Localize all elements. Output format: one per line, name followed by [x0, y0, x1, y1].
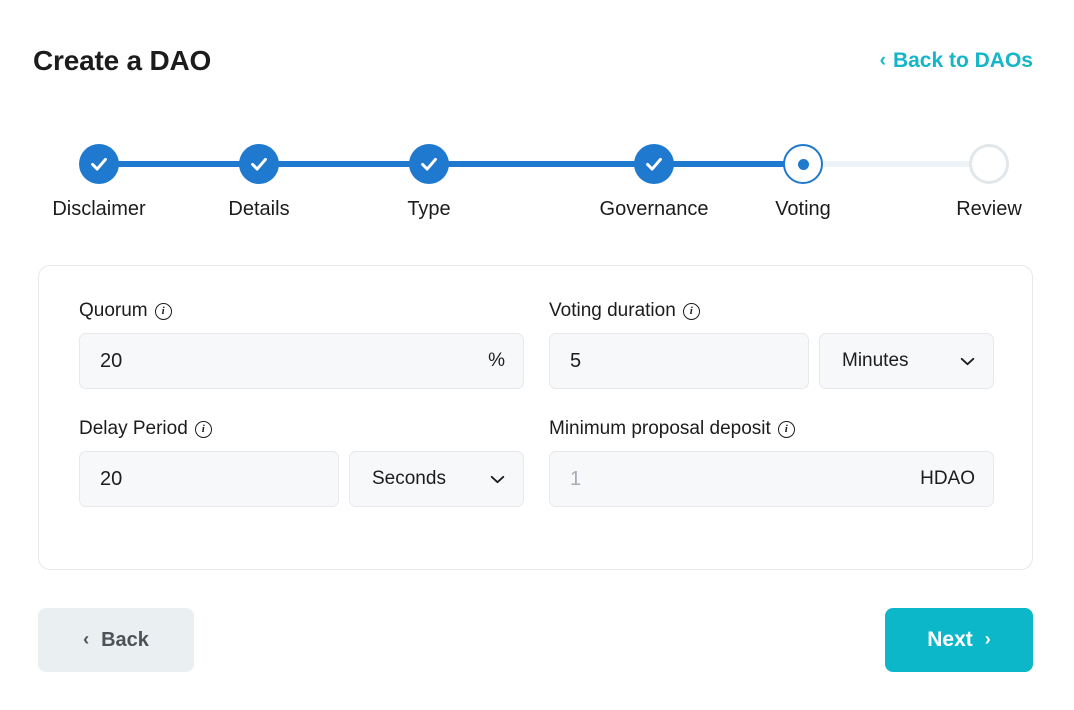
- input-voting-duration[interactable]: 5: [549, 333, 809, 389]
- field-label-minimum-proposal-deposit: Minimum proposal depositi: [549, 417, 994, 441]
- select-voting-duration[interactable]: Minutes: [819, 333, 994, 389]
- stepper-label-disclaimer: Disclaimer: [52, 196, 145, 222]
- stepper-node-details[interactable]: [239, 144, 279, 184]
- back-button[interactable]: ‹ Back: [38, 608, 194, 672]
- back-button-label: Back: [101, 629, 149, 652]
- stepper-connector: [803, 161, 989, 167]
- check-icon: [643, 153, 665, 175]
- stepper-label-type: Type: [407, 196, 450, 222]
- info-icon[interactable]: i: [195, 421, 212, 438]
- field-label-delay-period: Delay Periodi: [79, 417, 524, 441]
- stepper-connector: [429, 161, 654, 167]
- chevron-right-icon: ›: [985, 630, 991, 648]
- stepper-label-governance: Governance: [600, 196, 709, 222]
- chevron-left-icon: ‹: [880, 51, 886, 70]
- voting-settings-card: Quorumi20%Voting durationi5MinutesDelay …: [38, 265, 1033, 570]
- input-suffix: %: [488, 348, 505, 374]
- input-delay-period[interactable]: 20: [79, 451, 339, 507]
- field-label-text: Delay Period: [79, 417, 188, 441]
- chevron-left-icon: ‹: [83, 630, 89, 648]
- input-quorum[interactable]: 20%: [79, 333, 524, 389]
- input-value: 1: [570, 466, 581, 492]
- stepper-connector: [99, 161, 259, 167]
- field-label-text: Voting duration: [549, 299, 676, 323]
- current-step-dot: [798, 159, 809, 170]
- page-header: Create a DAO ‹ Back to DAOs: [33, 40, 1033, 82]
- check-icon: [248, 153, 270, 175]
- field-delay-period: Delay Periodi20Seconds: [79, 417, 524, 507]
- stepper-label-review: Review: [956, 196, 1022, 222]
- stepper-node-disclaimer[interactable]: [79, 144, 119, 184]
- stepper-label-voting: Voting: [775, 196, 831, 222]
- field-quorum: Quorumi20%: [79, 299, 524, 389]
- next-button-label: Next: [927, 628, 973, 652]
- stepper-label-details: Details: [228, 196, 289, 222]
- stepper-node-governance[interactable]: [634, 144, 674, 184]
- create-dao-page: Create a DAO ‹ Back to DAOs DisclaimerDe…: [0, 0, 1074, 710]
- stepper-node-voting[interactable]: [783, 144, 823, 184]
- select-delay-period[interactable]: Seconds: [349, 451, 524, 507]
- stepper-node-review[interactable]: [969, 144, 1009, 184]
- back-to-daos-label: Back to DAOs: [893, 48, 1033, 74]
- stepper-connector: [654, 161, 803, 167]
- control-row-minimum-proposal-deposit: 1HDAO: [549, 451, 994, 507]
- field-label-text: Quorum: [79, 299, 148, 323]
- chevron-down-icon: [960, 357, 975, 366]
- info-icon[interactable]: i: [683, 303, 700, 320]
- progress-stepper: DisclaimerDetailsTypeGovernanceVotingRev…: [33, 140, 1033, 230]
- field-voting-duration: Voting durationi5Minutes: [549, 299, 994, 389]
- field-label-quorum: Quorumi: [79, 299, 524, 323]
- stepper-connector: [259, 161, 429, 167]
- input-value: 20: [100, 466, 122, 492]
- stepper-node-type[interactable]: [409, 144, 449, 184]
- check-icon: [418, 153, 440, 175]
- select-value: Minutes: [842, 348, 909, 374]
- info-icon[interactable]: i: [155, 303, 172, 320]
- field-minimum-proposal-deposit: Minimum proposal depositi1HDAO: [549, 417, 994, 507]
- input-value: 5: [570, 348, 581, 374]
- control-row-voting-duration: 5Minutes: [549, 333, 994, 389]
- voting-form: Quorumi20%Voting durationi5MinutesDelay …: [79, 299, 994, 507]
- field-label-text: Minimum proposal deposit: [549, 417, 771, 441]
- back-to-daos-link[interactable]: ‹ Back to DAOs: [880, 48, 1033, 74]
- input-value: 20: [100, 348, 122, 374]
- chevron-down-icon: [490, 475, 505, 484]
- select-value: Seconds: [372, 466, 446, 492]
- stepper-track: [33, 140, 1033, 188]
- control-row-delay-period: 20Seconds: [79, 451, 524, 507]
- next-button[interactable]: Next ›: [885, 608, 1033, 672]
- field-label-voting-duration: Voting durationi: [549, 299, 994, 323]
- check-icon: [88, 153, 110, 175]
- info-icon[interactable]: i: [778, 421, 795, 438]
- page-title: Create a DAO: [33, 44, 211, 78]
- input-minimum-proposal-deposit[interactable]: 1HDAO: [549, 451, 994, 507]
- wizard-footer: ‹ Back Next ›: [38, 608, 1033, 672]
- input-suffix: HDAO: [920, 466, 975, 492]
- control-row-quorum: 20%: [79, 333, 524, 389]
